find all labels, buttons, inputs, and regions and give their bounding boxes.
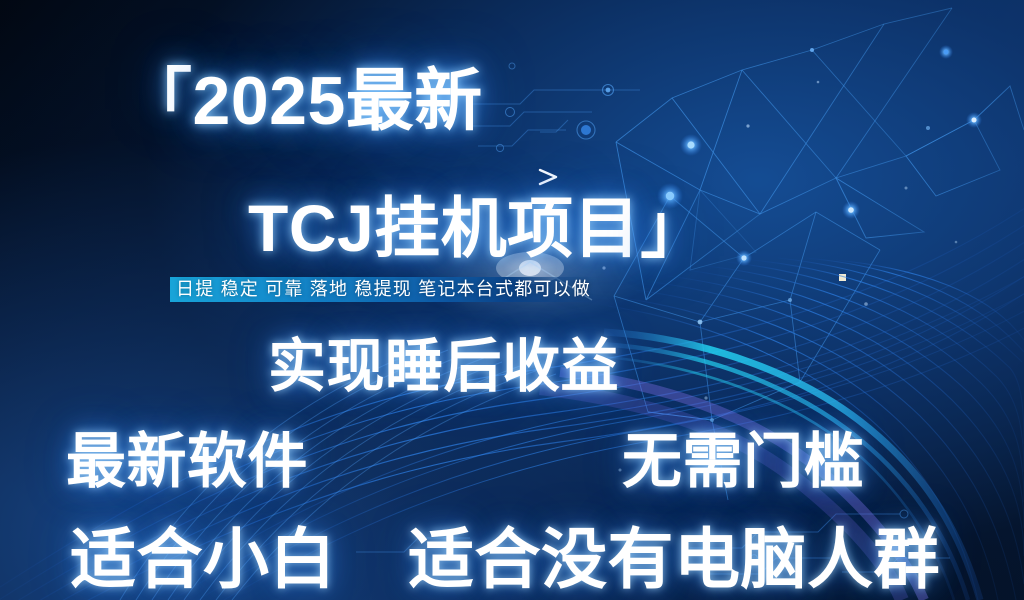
feature-row1-right: 无需门槛 bbox=[622, 428, 864, 496]
headline-secondary-text: TCJ挂机项目 bbox=[248, 191, 640, 265]
promo-banner: 「2025最新 TCJ挂机项目」 日提 稳定 可靠 落地 稳提现 笔记本台式都可… bbox=[0, 0, 1024, 600]
close-bracket: 」 bbox=[640, 191, 707, 265]
headline-secondary: TCJ挂机项目」 bbox=[248, 190, 707, 266]
feature-row2-left: 适合小白 bbox=[70, 522, 336, 596]
open-bracket: 「 bbox=[124, 63, 193, 139]
feature-row2-right: 适合没有电脑人群 bbox=[408, 522, 940, 596]
headline-primary: 「2025最新 bbox=[124, 62, 483, 140]
headline-benefit: 实现睡后收益 bbox=[268, 334, 619, 400]
arrow-divider-icon bbox=[183, 170, 556, 184]
headline-primary-text: 2025最新 bbox=[193, 63, 483, 139]
tagline-text: 日提 稳定 可靠 落地 稳提现 笔记本台式都可以做 bbox=[176, 278, 591, 301]
feature-row1-left: 最新软件 bbox=[66, 428, 308, 496]
